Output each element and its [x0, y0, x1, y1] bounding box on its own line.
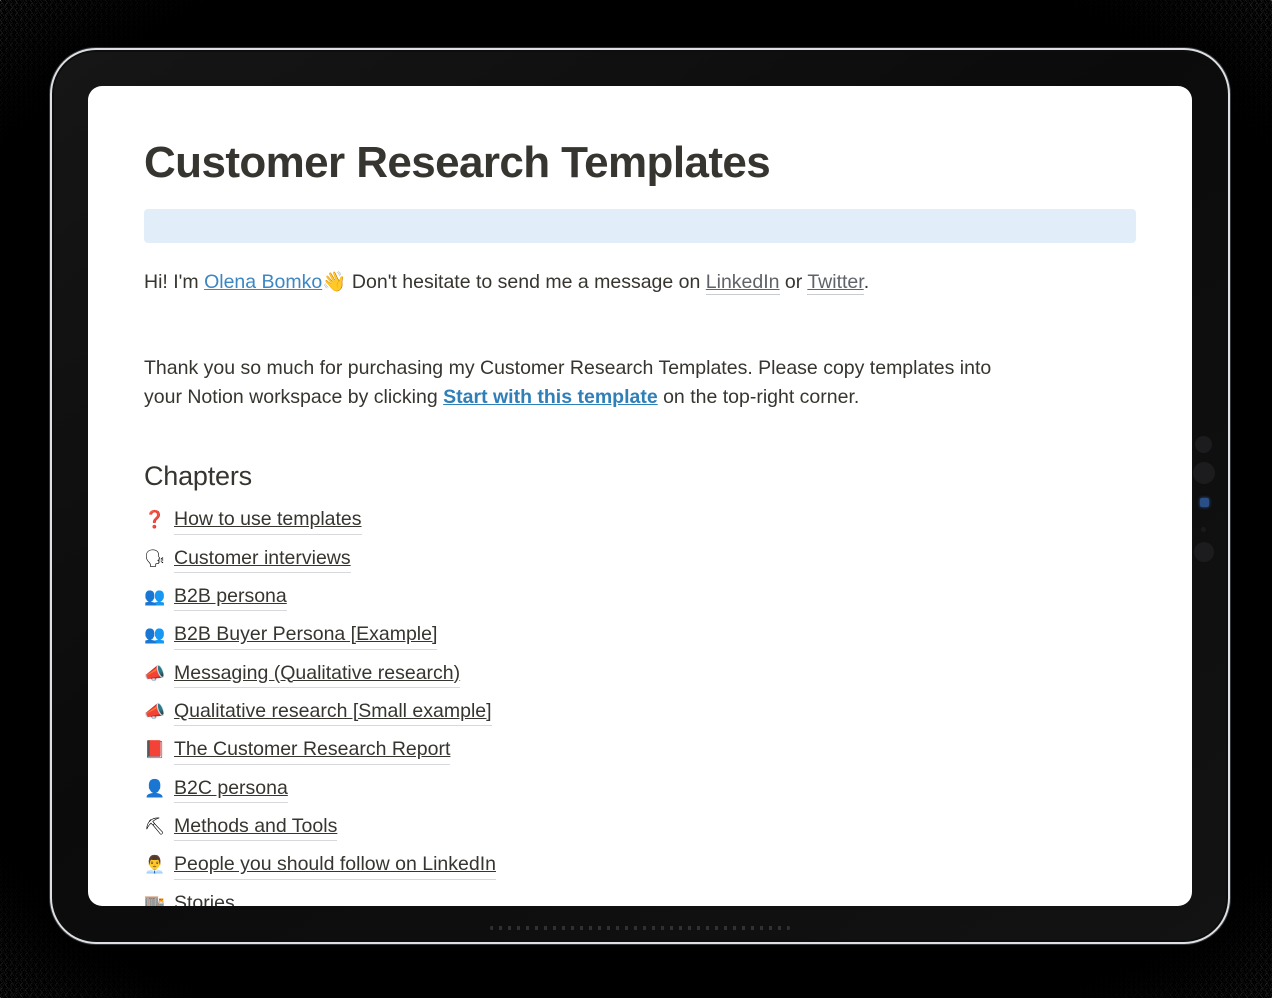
chapter-link[interactable]: Qualitative research [Small example]	[174, 699, 492, 726]
secondary-sensor-icon	[1194, 542, 1214, 562]
front-camera-icon	[1193, 462, 1215, 484]
intro-prefix: Hi! I'm	[144, 271, 204, 293]
list-item[interactable]: 👨‍💼 People you should follow on LinkedIn	[144, 847, 1136, 885]
closed-book-icon: 📕	[144, 742, 164, 759]
paragraph-part-2: on the top-right corner.	[658, 386, 860, 408]
waving-hand-icon: 👋	[322, 270, 346, 293]
pick-icon: ⛏	[144, 819, 164, 836]
speaking-head-icon: 🗣	[144, 551, 164, 568]
chapters-list: ❓ How to use templates 🗣 Customer interv…	[144, 502, 1136, 906]
chapter-link[interactable]: How to use templates	[174, 507, 362, 534]
list-item[interactable]: 🏬 Stories	[144, 885, 1136, 906]
megaphone-icon: 📣	[144, 666, 164, 683]
chapter-link[interactable]: B2B Buyer Persona [Example]	[174, 622, 437, 649]
start-with-this-template-link[interactable]: Start with this template	[443, 386, 658, 408]
list-item[interactable]: 📕 The Customer Research Report	[144, 732, 1136, 770]
page-title: Customer Research Templates	[144, 138, 1136, 187]
list-item[interactable]: 📣 Messaging (Qualitative research)	[144, 655, 1136, 693]
chapter-link[interactable]: B2C persona	[174, 776, 288, 803]
intro-suffix: .	[864, 271, 869, 293]
list-item[interactable]: 📣 Qualitative research [Small example]	[144, 693, 1136, 731]
speaker-grille	[490, 926, 790, 930]
chapter-link[interactable]: The Customer Research Report	[174, 737, 450, 764]
chapter-link[interactable]: Stories	[174, 891, 235, 906]
intro-middle-text: Don't hesitate to send me a message on	[347, 271, 706, 293]
office-worker-icon: 👨‍💼	[144, 857, 164, 874]
megaphone-icon: 📣	[144, 704, 164, 721]
chapters-heading: Chapters	[144, 461, 1136, 492]
list-item[interactable]: ⛏ Methods and Tools	[144, 809, 1136, 847]
status-led-indicator	[1200, 498, 1209, 507]
intro-paragraph: Hi! I'm Olena Bomko👋 Don't hesitate to s…	[144, 267, 1136, 297]
department-store-icon: 🏬	[144, 896, 164, 906]
linkedin-link[interactable]: LinkedIn	[706, 271, 780, 295]
question-mark-icon: ❓	[144, 512, 164, 529]
bust-in-silhouette-icon: 👤	[144, 781, 164, 798]
author-name-link[interactable]: Olena Bomko	[204, 271, 322, 293]
chapter-link[interactable]: Customer interviews	[174, 546, 351, 573]
notion-document: Customer Research Templates Hi! I'm Olen…	[88, 86, 1192, 906]
tablet-screen: Customer Research Templates Hi! I'm Olen…	[88, 86, 1192, 906]
callout-banner	[144, 209, 1136, 243]
intro-conjunction: or	[780, 271, 808, 293]
chapter-link[interactable]: Methods and Tools	[174, 814, 337, 841]
list-item[interactable]: 👥 B2B persona	[144, 578, 1136, 616]
chapter-link[interactable]: Messaging (Qualitative research)	[174, 661, 460, 688]
chapter-link[interactable]: People you should follow on LinkedIn	[174, 852, 496, 879]
twitter-link[interactable]: Twitter	[807, 271, 863, 295]
ambient-light-sensor-icon	[1201, 527, 1206, 532]
list-item[interactable]: 🗣 Customer interviews	[144, 540, 1136, 578]
purchase-thankyou-paragraph: Thank you so much for purchasing my Cust…	[144, 354, 1004, 413]
camera-sensor-icon	[1195, 436, 1212, 453]
tablet-device-frame: Customer Research Templates Hi! I'm Olen…	[52, 50, 1228, 942]
chapter-link[interactable]: B2B persona	[174, 584, 287, 611]
list-item[interactable]: 👤 B2C persona	[144, 770, 1136, 808]
busts-in-silhouette-icon: 👥	[144, 627, 164, 644]
list-item[interactable]: 👥 B2B Buyer Persona [Example]	[144, 617, 1136, 655]
list-item[interactable]: ❓ How to use templates	[144, 502, 1136, 540]
busts-in-silhouette-icon: 👥	[144, 589, 164, 606]
